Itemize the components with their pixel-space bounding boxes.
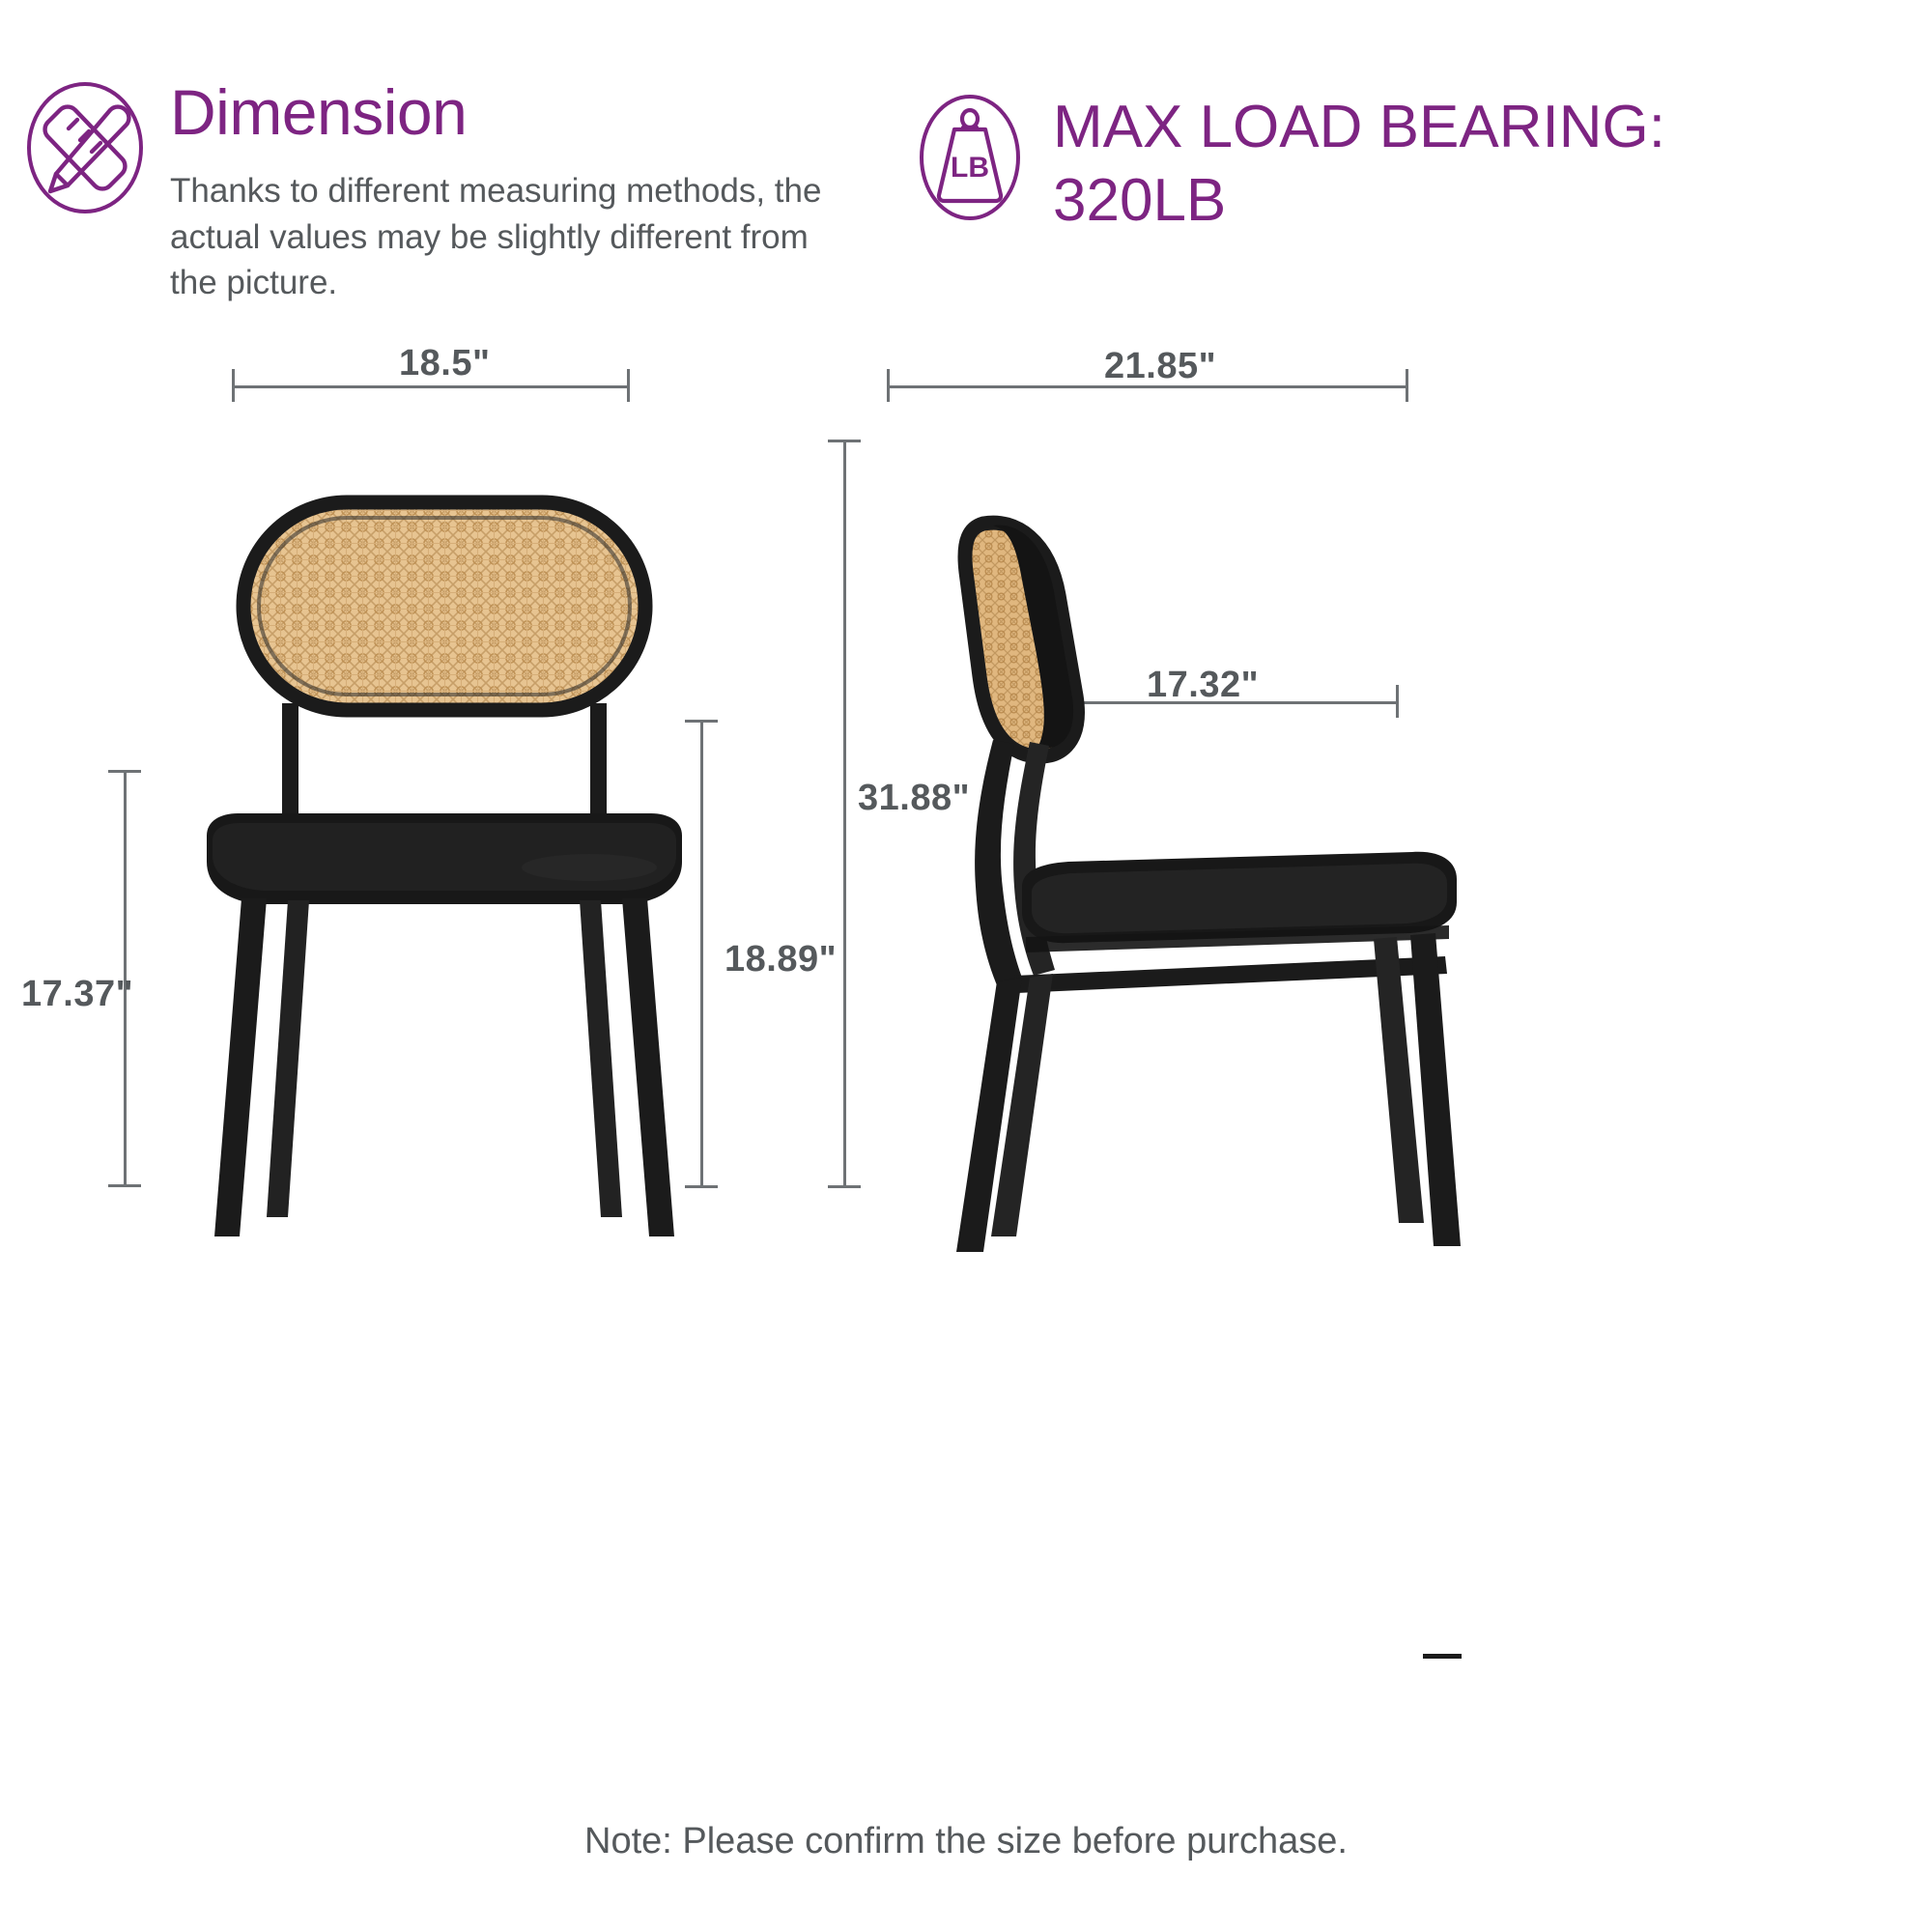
dimension-text-column: Dimension Thanks to different measuring …: [170, 75, 827, 306]
load-text-column: MAX LOAD BEARING: 320LB: [1053, 87, 1729, 237]
measure-label-front-width: 18.5": [399, 343, 490, 384]
dimension-tick-right: [1406, 369, 1408, 402]
dimension-line: [232, 385, 630, 388]
scale-dash-mark: [1423, 1654, 1462, 1659]
measure-label-side-depth: 21.85": [1104, 346, 1216, 387]
dimension-tick-top: [828, 440, 861, 442]
measure-label-seat-height: 18.89": [724, 939, 837, 980]
dimension-tick-top: [108, 770, 141, 773]
dimension-tick-left: [887, 369, 890, 402]
weight-lb-icon: LB: [908, 87, 1032, 228]
rattan-cane-panel: [243, 502, 645, 710]
dimension-tick-right: [627, 369, 630, 402]
ruler-pencil-icon: [21, 75, 149, 220]
dimension-header: Dimension Thanks to different measuring …: [21, 75, 852, 306]
max-load-header: LB MAX LOAD BEARING: 320LB: [908, 87, 1913, 237]
chair-side-view-image: [869, 502, 1488, 1256]
dimension-line: [843, 440, 846, 1188]
max-load-title: MAX LOAD BEARING: 320LB: [1053, 91, 1729, 237]
dimension-tick-bottom: [108, 1184, 141, 1187]
page-title: Dimension: [170, 79, 827, 147]
dimension-disclaimer: Thanks to different measuring methods, t…: [170, 168, 827, 306]
measure-label-leg-height: 17.37": [21, 974, 133, 1015]
footer-note: Note: Please confirm the size before pur…: [0, 1821, 1932, 1862]
dimension-tick-left: [232, 369, 235, 402]
weight-icon-label: LB: [951, 152, 989, 184]
infographic-page: Dimension Thanks to different measuring …: [0, 0, 1932, 1932]
chair-front-view-image: [174, 502, 715, 1236]
dimension-tick-bottom: [828, 1185, 861, 1188]
